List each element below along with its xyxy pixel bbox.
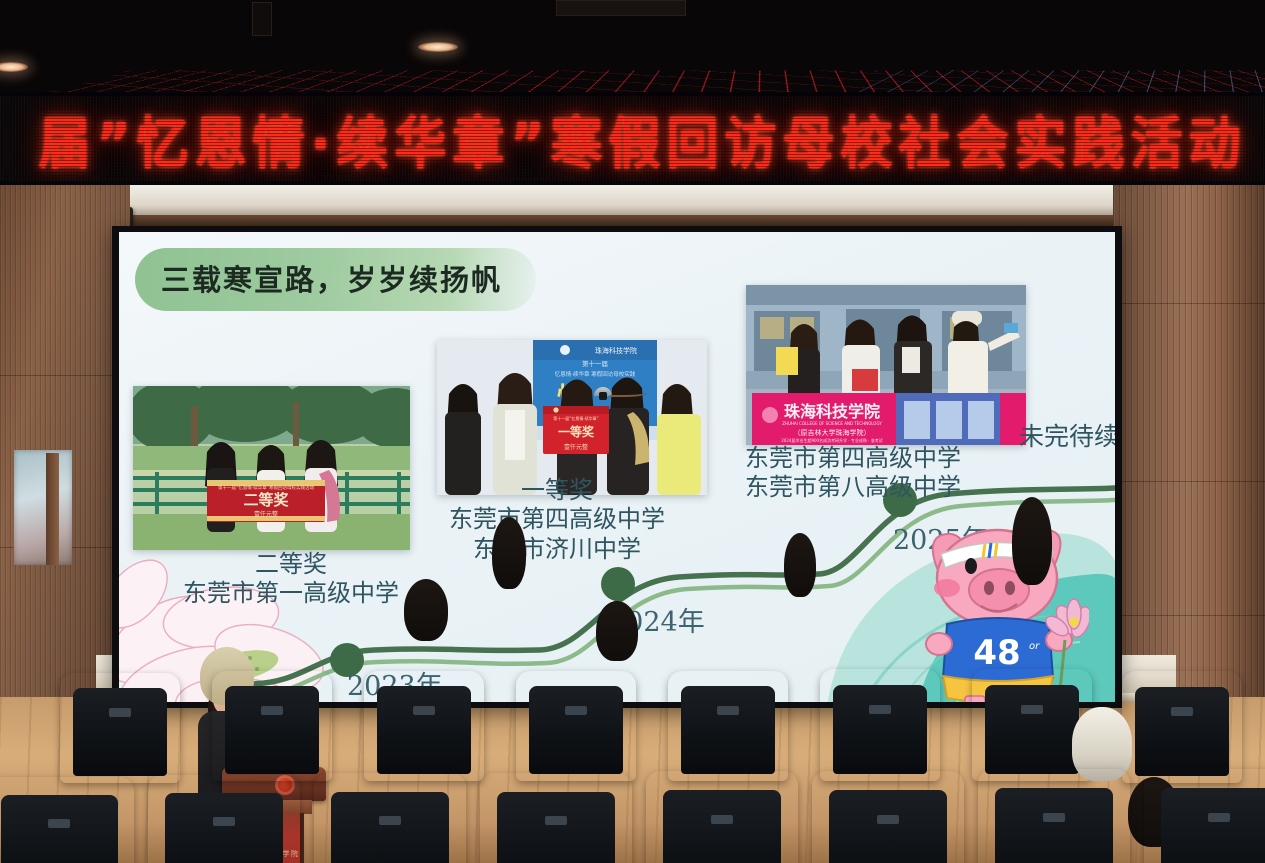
timeline-caption-future: 未完待续 — [1019, 422, 1115, 453]
timeline-school-2024-a: 东莞市第四高级中学 — [449, 505, 665, 534]
audience-head — [492, 517, 526, 589]
ceiling-soffit — [118, 185, 1118, 219]
audience-chair — [812, 771, 964, 863]
timeline-award-2024: 一等奖 — [449, 476, 665, 505]
chair-seatback — [833, 685, 927, 775]
wall-glass-trim — [46, 453, 59, 565]
audience-chair — [148, 775, 300, 863]
chair-tag — [413, 706, 435, 715]
ceiling — [0, 0, 1265, 92]
timeline-school-2025-a: 东莞市第四高级中学 — [745, 444, 961, 473]
chair-seatback — [1161, 788, 1265, 863]
ceiling-vent — [556, 0, 686, 16]
audience-head — [784, 533, 816, 597]
chair-seatback — [995, 788, 1114, 863]
chair-seatback — [225, 686, 319, 774]
audience-chair — [820, 669, 940, 781]
chair-seatback — [681, 686, 775, 774]
chair-seatback — [377, 686, 471, 774]
chair-tag — [1208, 813, 1230, 822]
room: 三载寒宣路，岁岁续扬帆 — [0, 185, 1265, 863]
ceiling-camera — [594, 381, 612, 399]
chair-seatback — [497, 792, 616, 863]
chair-seatback — [1135, 687, 1229, 777]
chair-tag — [261, 706, 283, 715]
wall-seam — [1113, 615, 1265, 616]
chair-seatback — [165, 793, 284, 863]
chair-seatback — [1, 795, 118, 863]
timeline-caption-2023: 二等奖 东莞市第一高级中学 — [183, 550, 399, 609]
chair-tag — [1043, 813, 1065, 822]
audience-chair — [668, 671, 788, 781]
audience-head — [596, 601, 638, 661]
mascot-shirt-superscript: or — [1029, 641, 1040, 652]
audience-chair — [516, 671, 636, 781]
timeline-school-2023: 东莞市第一高级中学 — [183, 579, 399, 608]
timeline-node-2024 — [601, 567, 635, 601]
audience-head — [404, 579, 448, 641]
camera-lens — [599, 392, 607, 400]
wall-seam — [1113, 481, 1265, 482]
timeline-school-2025-b: 东莞市第八高级中学 — [745, 473, 961, 502]
led-banner-text: 届”忆恩情·续华章”寒假回访母校社会实践活动 — [38, 98, 1246, 179]
wall-right — [1113, 185, 1265, 720]
ceiling-downlight — [418, 42, 458, 52]
audience-chair — [0, 777, 134, 863]
audience-chair — [60, 673, 180, 783]
audience-chair — [364, 671, 484, 781]
audience-chair — [1122, 671, 1242, 783]
mascot-shirt-number: 48 — [973, 633, 1020, 673]
audience-chair — [212, 671, 332, 781]
chair-tag — [565, 706, 587, 715]
audience-chair — [646, 771, 798, 863]
audience-chair — [978, 769, 1130, 863]
timeline-caption-2025: 东莞市第四高级中学 东莞市第八高级中学 — [745, 444, 961, 503]
timeline-school-2024-b: 东莞市济川中学 — [449, 535, 665, 564]
audience-chair — [314, 773, 466, 863]
timeline-future-label: 未完待续 — [1019, 422, 1115, 453]
chair-tag — [1021, 705, 1043, 714]
chair-seatback — [829, 790, 948, 863]
chair-tag — [711, 815, 733, 824]
auditorium-scene: 届”忆恩情·续华章”寒假回访母校社会实践活动 — [0, 0, 1265, 863]
led-banner: 届”忆恩情·续华章”寒假回访母校社会实践活动 — [0, 92, 1265, 185]
chair-tag — [717, 706, 739, 715]
ceiling-vent — [252, 2, 272, 36]
chair-seatback — [985, 685, 1079, 775]
chair-tag — [109, 708, 131, 717]
chair-tag — [48, 819, 70, 828]
chair-seatback — [73, 688, 167, 776]
chair-seatback — [331, 792, 450, 863]
audience-chair — [1144, 769, 1265, 863]
chair-tag — [379, 816, 401, 825]
led-frame-top — [0, 92, 1265, 96]
audience-head — [1012, 497, 1052, 585]
chair-tag — [869, 705, 891, 714]
chair-seatback — [663, 790, 782, 863]
timeline-caption-2024: 一等奖 东莞市第四高级中学 东莞市济川中学 — [449, 476, 665, 564]
timeline-award-2023: 二等奖 — [183, 550, 399, 579]
chair-tag — [1171, 707, 1193, 716]
ceiling-downlight — [0, 62, 28, 72]
wall-seam — [0, 375, 130, 376]
chair-tag — [213, 817, 235, 826]
wall-glass-inset — [14, 450, 72, 565]
chair-tag — [877, 815, 899, 824]
audience-chair — [480, 773, 632, 863]
chair-seatback — [529, 686, 623, 774]
wall-seam — [1113, 303, 1265, 304]
chair-tag — [545, 816, 567, 825]
